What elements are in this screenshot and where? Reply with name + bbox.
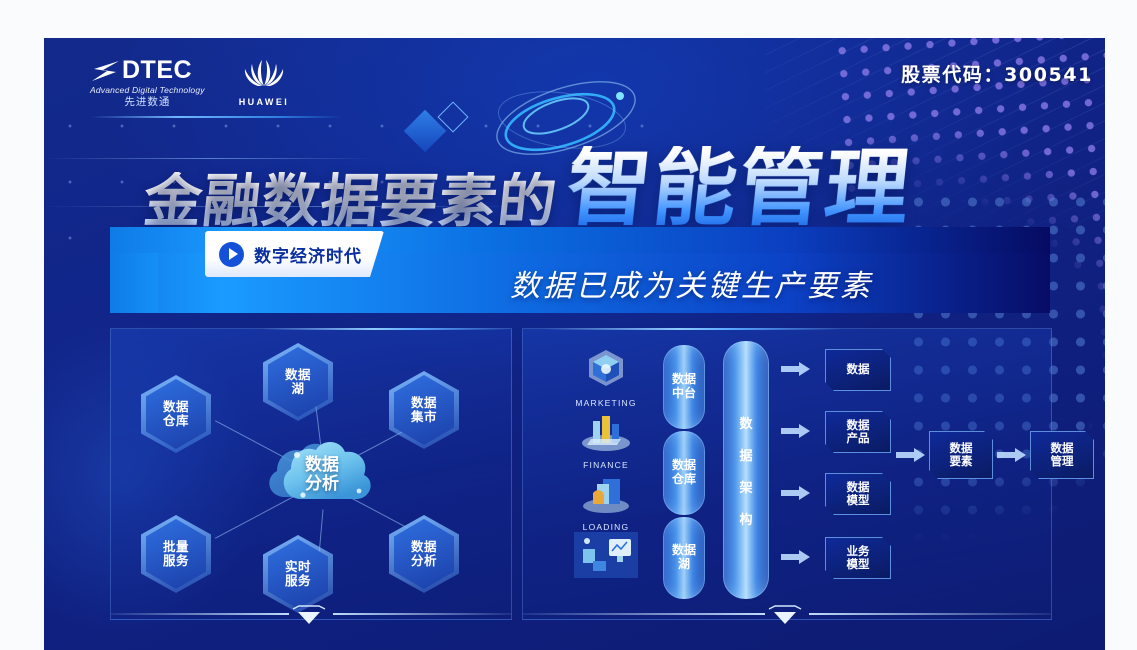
card-label-line2: 模型 — [847, 558, 870, 571]
card-label-line2: 要素 — [950, 455, 973, 468]
output-data-model[interactable]: 数据 模型 — [825, 473, 891, 515]
data-architecture-spine[interactable]: 数 据 架 构 — [723, 341, 769, 599]
spine-char: 据 — [739, 445, 752, 464]
logo-underline — [90, 116, 342, 118]
arrow-right-icon — [781, 485, 811, 501]
arrow-right-icon — [781, 361, 811, 377]
slide-canvas: DTEC Advanced Digital Technology 先进数通 — [44, 38, 1105, 650]
dtec-arrow-mark-icon — [90, 60, 120, 82]
dtec-tagline: Advanced Digital Technology — [90, 86, 205, 95]
node-label-line2: 集市 — [411, 410, 437, 424]
node-label-line2: 服务 — [285, 574, 311, 588]
node-label-line1: 数据 — [163, 400, 189, 414]
diamond-shape-icon — [410, 116, 440, 146]
dtec-wordmark: DTEC — [122, 58, 192, 83]
stock-code-label: 股票代码：300541 — [901, 60, 1093, 87]
card-label-line1: 数据 — [847, 363, 870, 376]
spine-char: 构 — [739, 509, 752, 528]
page-title-part2: 智能管理 — [563, 146, 916, 230]
left-panel-footer — [105, 599, 517, 629]
final-data-management[interactable]: 数据 管理 — [1030, 431, 1094, 479]
center-node-line1: 数据 — [305, 456, 339, 475]
banner-content: 数字经济时代 数据已成为关键生产要素 — [110, 253, 1050, 313]
section-tab-digital-economy[interactable]: 数字经济时代 — [205, 231, 384, 277]
dtec-chinese-name: 先进数通 — [90, 97, 205, 108]
capsule-label-line1: 数据 — [672, 373, 696, 387]
node-label-line2: 湖 — [291, 382, 304, 396]
arrow-right-icon — [896, 447, 926, 463]
panel-top-glow — [543, 328, 843, 330]
chevron-down-icon[interactable] — [289, 605, 329, 627]
page-title-part1: 金融数据要素的 — [141, 172, 560, 230]
page-title: 金融数据要素的 智能管理 — [144, 146, 911, 230]
center-node-data-analysis[interactable]: 数据 分析 — [263, 433, 381, 511]
section-tab-label: 数字经济时代 — [254, 242, 362, 267]
node-data-analysis[interactable]: 数据 分析 — [389, 515, 459, 593]
card-label-line2: 产品 — [847, 432, 870, 445]
node-label-line1: 数据 — [285, 368, 311, 382]
capsule-label-line2: 仓库 — [672, 473, 696, 487]
card-label-line2: 管理 — [1051, 455, 1074, 468]
right-panel-footer — [517, 599, 1057, 629]
panel-top-glow — [261, 328, 511, 330]
layer-data-midplatform[interactable]: 数据 中台 — [663, 345, 705, 429]
node-data-mart[interactable]: 数据 集市 — [389, 371, 459, 449]
card-label-line2: 模型 — [847, 494, 870, 507]
left-diagram-panel: 数据 仓库 数据 湖 数据 集市 批量 服务 — [110, 328, 512, 620]
center-node-labels: 数据 分析 — [263, 433, 381, 511]
right-flow-panel: MARKETING FINANCE — [522, 328, 1052, 620]
node-batch-service[interactable]: 批量 服务 — [141, 515, 211, 593]
capsule-label-line1: 数据 — [672, 544, 696, 558]
spine-char: 架 — [739, 477, 752, 496]
spine-char: 数 — [739, 413, 752, 432]
arrow-right-icon — [781, 423, 811, 439]
loading-data-icon — [577, 502, 635, 519]
output-data[interactable]: 数据 — [825, 349, 891, 391]
node-label-line2: 服务 — [163, 554, 189, 568]
banner-headline: 数据已成为关键生产要素 — [510, 253, 873, 313]
node-data-warehouse[interactable]: 数据 仓库 — [141, 375, 211, 453]
logo-group: DTEC Advanced Digital Technology 先进数通 — [90, 58, 289, 107]
dtec-logo: DTEC Advanced Digital Technology 先进数通 — [90, 58, 205, 107]
arrow-right-icon — [997, 447, 1027, 463]
layer-data-warehouse[interactable]: 数据 仓库 — [663, 431, 705, 515]
finance-chart-icon — [577, 440, 635, 457]
chevron-down-icon[interactable] — [765, 605, 805, 627]
node-label-line1: 批量 — [163, 540, 189, 554]
source-marketing[interactable]: MARKETING — [575, 347, 637, 408]
source-loading[interactable]: LOADING — [575, 471, 637, 532]
output-data-product[interactable]: 数据 产品 — [825, 411, 891, 453]
analytics-screen-icon — [573, 566, 639, 583]
huawei-logo: HUAWEI — [239, 59, 289, 107]
output-business-model[interactable]: 业务 模型 — [825, 537, 891, 579]
node-label-line2: 仓库 — [163, 414, 189, 428]
source-finance[interactable]: FINANCE — [575, 409, 637, 470]
source-label: MARKETING — [575, 398, 637, 408]
node-data-lake[interactable]: 数据 湖 — [263, 343, 333, 421]
diamond-shape-icon — [442, 106, 462, 126]
capsule-label-line2: 湖 — [678, 558, 690, 572]
layer-data-lake[interactable]: 数据 湖 — [663, 517, 705, 599]
huawei-flower-icon — [241, 74, 287, 91]
play-circle-icon — [219, 242, 244, 267]
source-analytics[interactable] — [573, 531, 639, 586]
node-label-line1: 实时 — [285, 560, 311, 574]
capsule-label-line1: 数据 — [672, 459, 696, 473]
center-node-line2: 分析 — [305, 475, 339, 494]
source-label: FINANCE — [575, 460, 637, 470]
final-data-element[interactable]: 数据 要素 — [929, 431, 993, 479]
huawei-wordmark: HUAWEI — [239, 97, 289, 107]
marketing-cube-icon — [577, 378, 635, 395]
node-label-line1: 数据 — [411, 540, 437, 554]
node-label-line2: 分析 — [411, 554, 437, 568]
arrow-right-icon — [781, 549, 811, 565]
node-label-line1: 数据 — [411, 396, 437, 410]
capsule-label-line2: 中台 — [672, 387, 696, 401]
